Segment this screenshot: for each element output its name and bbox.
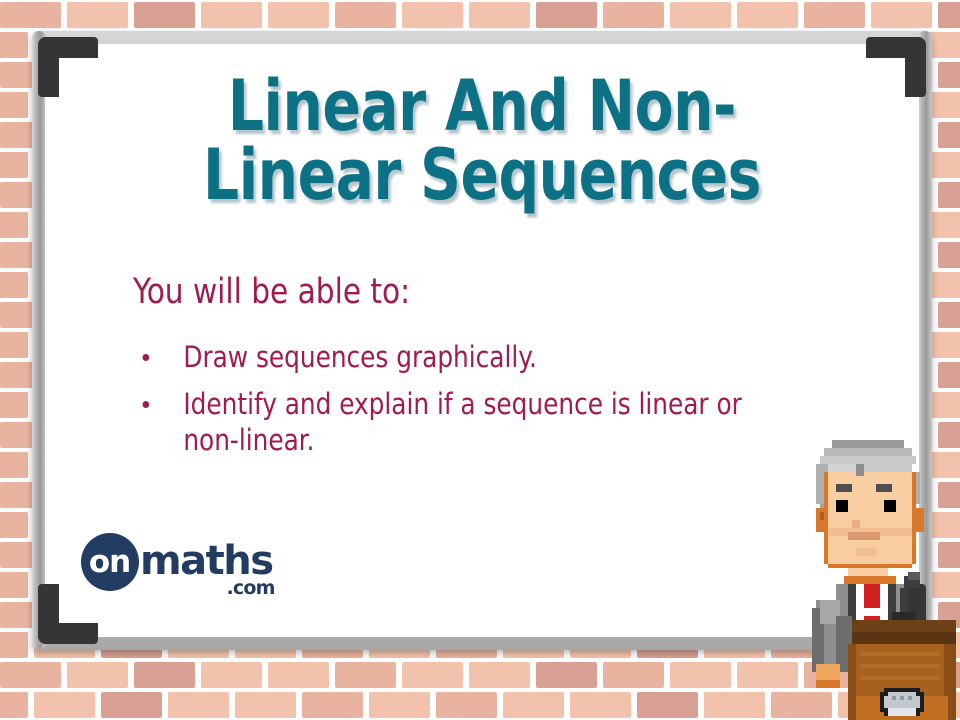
brick [101, 692, 162, 718]
brick [503, 692, 564, 718]
bullet-dot-icon [143, 354, 150, 361]
brick [938, 302, 960, 328]
objectives-heading: You will be able to: [133, 273, 410, 312]
frame-corner-top-right [866, 37, 926, 97]
whiteboard-surface: Linear And Non- Linear Sequences You wil… [45, 44, 919, 637]
bullet-dot-icon [143, 401, 150, 408]
brick [0, 512, 28, 538]
brick [704, 692, 765, 718]
presenter-svg [800, 432, 960, 720]
logo-mark: on [81, 533, 139, 591]
brick [436, 692, 497, 718]
brick [134, 662, 195, 688]
brick [536, 662, 597, 688]
brick [570, 692, 631, 718]
brick [804, 2, 865, 28]
brick [0, 692, 28, 718]
podium-icon [848, 620, 956, 720]
brick [938, 2, 960, 28]
brick [737, 2, 798, 28]
brick [0, 32, 28, 58]
brick [335, 662, 396, 688]
brick [201, 2, 262, 28]
brick [536, 2, 597, 28]
whiteboard-frame-left [32, 31, 46, 650]
brick [469, 662, 530, 688]
onmaths-logo-icon[interactable]: on maths .com [81, 533, 273, 595]
face-icon [816, 472, 924, 564]
brick [637, 692, 698, 718]
brick [603, 662, 664, 688]
brick [871, 2, 932, 28]
brick [0, 272, 28, 298]
brick-course [0, 0, 960, 30]
slide-root: Linear And Non- Linear Sequences You wil… [0, 0, 960, 720]
brick [938, 62, 960, 88]
brick [0, 152, 28, 178]
page-title: Linear And Non- Linear Sequences [45, 72, 919, 211]
brick [0, 662, 61, 688]
brick [0, 392, 28, 418]
brick [670, 662, 731, 688]
brick [235, 692, 296, 718]
pixel-presenter-icon [800, 432, 960, 720]
brick [302, 692, 363, 718]
title-line-2: Linear Sequences [89, 141, 876, 210]
brick [268, 2, 329, 28]
brick [0, 452, 28, 478]
brick [201, 662, 262, 688]
brick [67, 2, 128, 28]
brick [603, 2, 664, 28]
frame-corner-bottom-left [38, 584, 98, 644]
brick [34, 692, 95, 718]
brick [938, 242, 960, 268]
frame-corner-top-left [38, 37, 98, 97]
brick [0, 332, 28, 358]
objective-text: Draw sequences graphically. [183, 340, 537, 374]
brick [0, 212, 28, 238]
brick [402, 2, 463, 28]
brick [335, 2, 396, 28]
brick [134, 2, 195, 28]
brick [0, 632, 28, 658]
title-line-1: Linear And Non- [89, 72, 876, 141]
brick [268, 662, 329, 688]
brick [938, 122, 960, 148]
podium-seal-icon [880, 688, 924, 716]
brick [0, 2, 61, 28]
brick [168, 692, 229, 718]
brick [938, 182, 960, 208]
objectives-list: Draw sequences graphically. Identify and… [133, 340, 833, 470]
logo-tld: .com [226, 577, 274, 599]
brick [369, 692, 430, 718]
list-item: Identify and explain if a sequence is li… [133, 387, 798, 458]
brick [737, 662, 798, 688]
brick [0, 572, 28, 598]
brick [938, 362, 960, 388]
collar-shadow [844, 576, 896, 584]
brick [0, 92, 28, 118]
brick [402, 662, 463, 688]
brick [469, 2, 530, 28]
whiteboard-icon: Linear And Non- Linear Sequences You wil… [32, 31, 932, 650]
brick [670, 2, 731, 28]
brick [67, 662, 128, 688]
list-item: Draw sequences graphically. [133, 340, 798, 375]
objective-text: Identify and explain if a sequence is li… [183, 387, 741, 456]
